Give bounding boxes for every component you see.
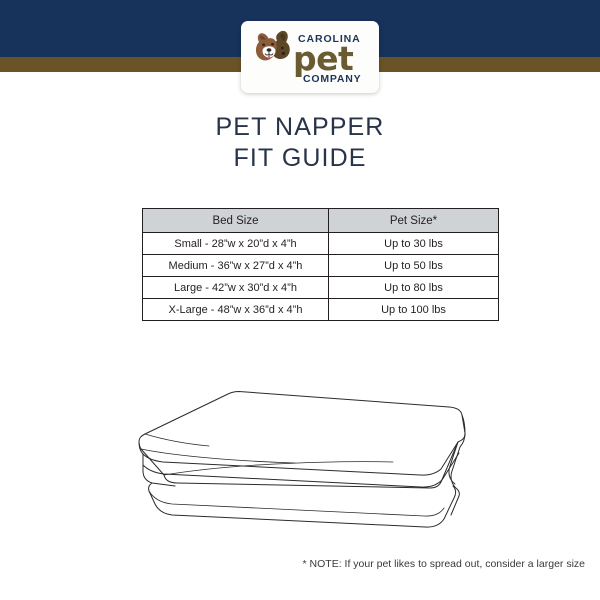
table-row: X-Large - 48”w x 36”d x 4”h Up to 100 lb… [143,299,499,321]
cell-bed-size: Small - 28”w x 20”d x 4”h [143,233,329,255]
fit-guide-table: Bed Size Pet Size* Small - 28”w x 20”d x… [142,208,499,321]
cell-bed-size: X-Large - 48”w x 36”d x 4”h [143,299,329,321]
cell-pet-size: Up to 80 lbs [329,277,499,299]
table-row: Large - 42”w x 30”d x 4”h Up to 80 lbs [143,277,499,299]
page-title-line-1: PET NAPPER [0,112,600,143]
cell-bed-size: Medium - 36”w x 27”d x 4”h [143,255,329,277]
table-row: Small - 28”w x 20”d x 4”h Up to 30 lbs [143,233,499,255]
cell-pet-size: Up to 100 lbs [329,299,499,321]
footnote-note: * NOTE: If your pet likes to spread out,… [0,558,585,570]
page-title-line-2: FIT GUIDE [0,143,600,174]
logo-text-pet: pet [293,42,353,75]
pet-bed-mattress-illustration-icon [125,385,480,545]
table-header-row: Bed Size Pet Size* [143,209,499,233]
table-row: Medium - 36”w x 27”d x 4”h Up to 50 lbs [143,255,499,277]
page-title: PET NAPPER FIT GUIDE [0,112,600,174]
column-header-pet-size: Pet Size* [329,209,499,233]
brand-logo-card[interactable]: CAROLINA pet COMPANY [241,21,379,93]
cell-pet-size: Up to 30 lbs [329,233,499,255]
column-header-bed-size: Bed Size [143,209,329,233]
cell-bed-size: Large - 42”w x 30”d x 4”h [143,277,329,299]
logo-text-company: COMPANY [303,73,362,85]
cell-pet-size: Up to 50 lbs [329,255,499,277]
brand-logo-inner: CAROLINA pet COMPANY [241,21,379,93]
